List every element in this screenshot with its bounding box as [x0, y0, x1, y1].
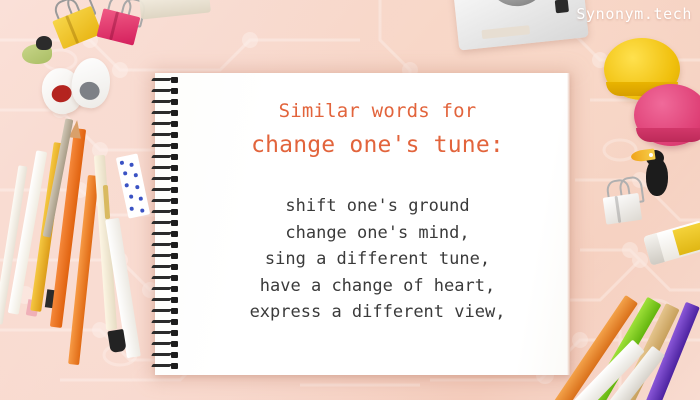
marker-white-cap — [107, 329, 126, 353]
spiral-binding — [150, 75, 182, 375]
note-content: Similar words for change one's tune: shi… — [185, 73, 570, 375]
list-item: express a different view, — [185, 299, 570, 326]
macaron-pink-filling — [636, 128, 700, 142]
brand-watermark: Synonym.tech — [576, 5, 692, 23]
headline-term: change one's tune: — [185, 130, 570, 160]
list-item: sing a different tune, — [185, 246, 570, 273]
bird-figurine — [20, 36, 54, 64]
screenshot-root: Similar words for change one's tune: shi… — [0, 0, 700, 400]
synonym-list: shift one's ground change one's mind, si… — [185, 193, 570, 326]
list-item: change one's mind, — [185, 220, 570, 247]
binder-clip-white — [602, 185, 647, 226]
headline-prefix: Similar words for — [185, 98, 570, 124]
list-item: shift one's ground — [185, 193, 570, 220]
list-item: have a change of heart, — [185, 273, 570, 300]
